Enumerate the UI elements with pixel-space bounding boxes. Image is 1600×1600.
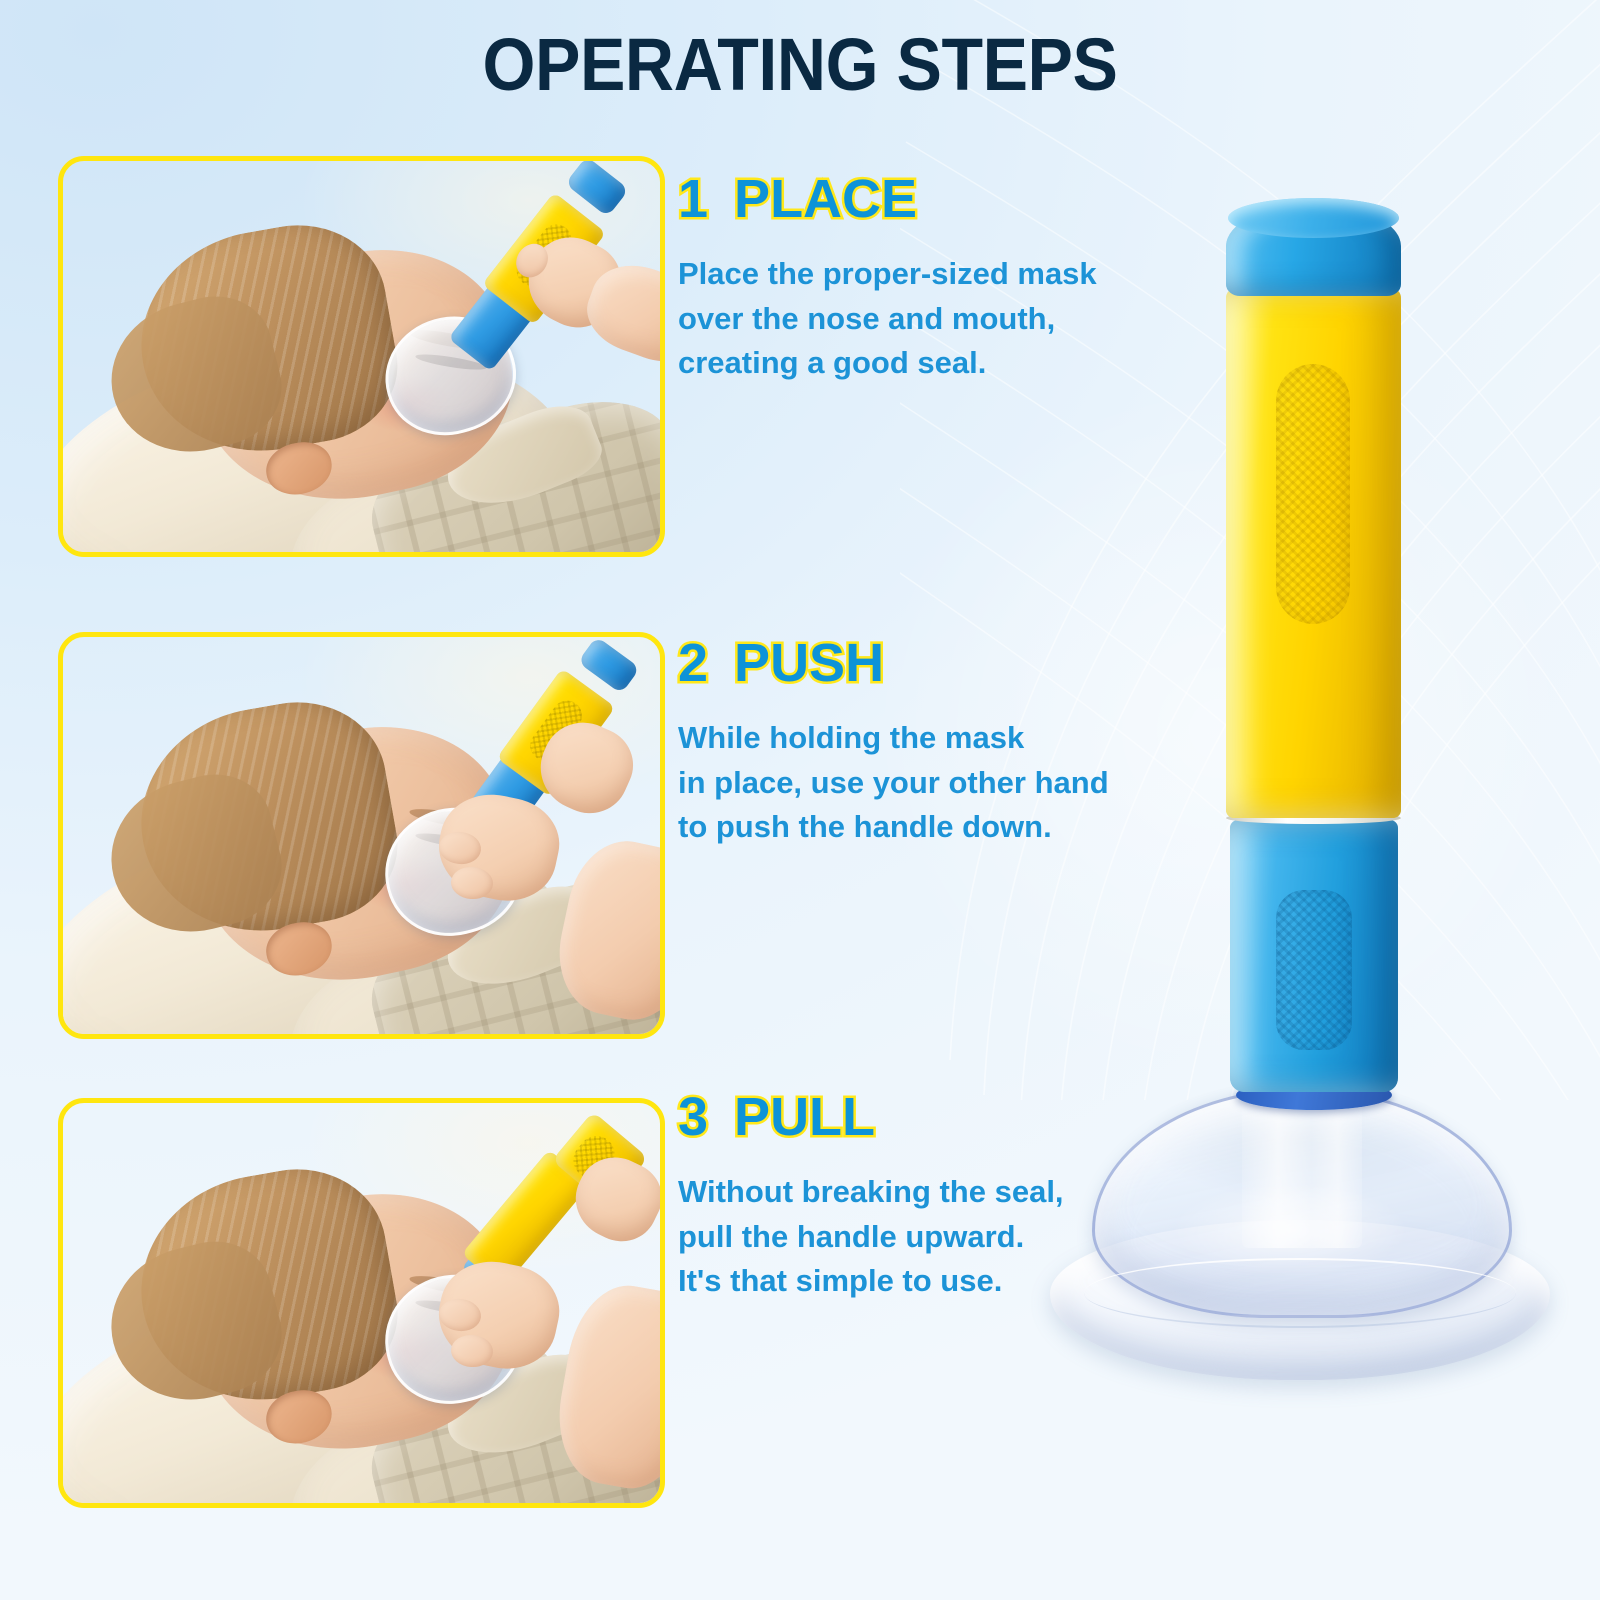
step-2-photo-frame[interactable] <box>58 632 665 1039</box>
step-2-photo <box>63 637 660 1034</box>
product-image <box>1030 180 1570 1250</box>
product-cap-top-face <box>1228 198 1399 238</box>
step-1-number: 1 <box>678 169 708 229</box>
step-3-number: 3 <box>678 1087 708 1147</box>
product-yellow-grip-pad <box>1276 364 1350 624</box>
step-3-title: PULL <box>734 1087 875 1147</box>
step-3-photo <box>63 1103 660 1503</box>
page-title: OPERATING STEPS <box>64 22 1536 107</box>
product-mask-seam <box>1084 1258 1516 1328</box>
step-2-title: PUSH <box>734 633 884 693</box>
product-blue-grip-pad <box>1276 890 1352 1050</box>
step-2-number: 2 <box>678 633 708 693</box>
step-3-photo-frame[interactable] <box>58 1098 665 1508</box>
step-1-photo <box>63 161 660 552</box>
step-1-photo-frame[interactable] <box>58 156 665 557</box>
step-1-title: PLACE <box>734 169 917 229</box>
